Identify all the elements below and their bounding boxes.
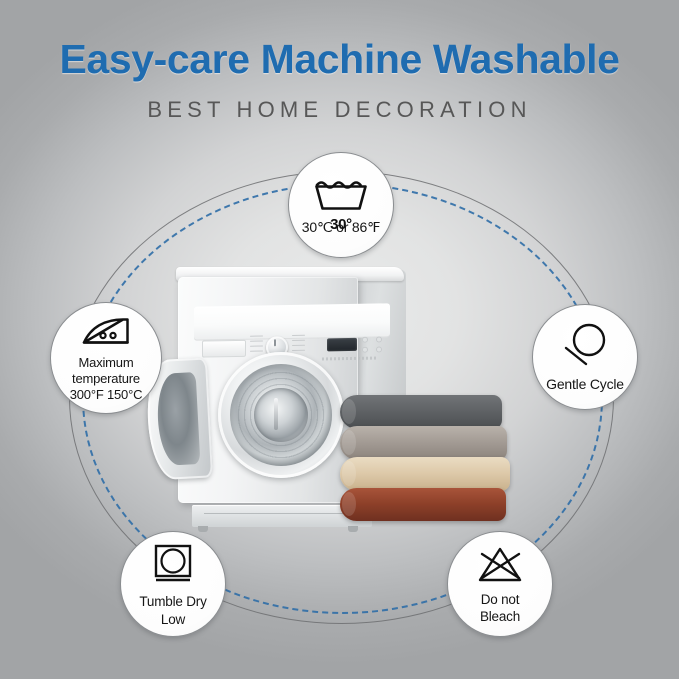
folded-blanket-stack: [340, 395, 505, 523]
panel-label-tick: [292, 335, 305, 337]
washer-foot: [348, 526, 358, 532]
infographic-canvas: Easy-care Machine Washable BEST HOME DEC…: [0, 0, 679, 679]
door-glass: [230, 364, 332, 466]
washer-foot: [198, 526, 208, 532]
washer-base-seam: [204, 513, 354, 514]
panel-label-tick: [250, 341, 263, 343]
detergent-drawer: [202, 340, 246, 358]
washer-control-panel: [194, 303, 390, 340]
care-badge-gentle-cycle[interactable]: Gentle Cycle: [532, 304, 638, 410]
gentle-cycle-icon: [559, 322, 611, 373]
wash-tub-temperature-text: 30°: [313, 216, 369, 233]
care-badge-caption-line1: Tumble Dry: [139, 594, 206, 609]
panel-label-tick: [250, 351, 263, 353]
blanket-taupe-gray: [340, 426, 507, 460]
panel-label-tick: [292, 345, 305, 347]
care-badge-wash-temperature[interactable]: 30° 30℃ or 86℉: [288, 152, 394, 258]
blanket-rust-brown: [340, 488, 506, 521]
care-badge-caption-line1: Maximum: [79, 356, 134, 370]
care-badge-caption-line2: Low: [161, 612, 185, 627]
display-screen: [327, 338, 357, 352]
drum-interior: [254, 388, 308, 442]
panel-label-tick: [292, 350, 305, 352]
iron-two-dots-icon: [79, 315, 133, 354]
care-badge-do-not-bleach[interactable]: Do not Bleach: [447, 531, 553, 637]
care-badge-caption-line3: 300°F 150°C: [70, 388, 143, 402]
blanket-dark-gray: [340, 395, 502, 429]
panel-label-tick: [250, 346, 263, 348]
care-badge-tumble-dry[interactable]: Tumble Dry Low: [120, 531, 226, 637]
care-badge-caption-line2: Bleach: [480, 609, 520, 624]
care-badge-iron-temperature[interactable]: Maximum temperature 300°F 150°C: [50, 302, 162, 414]
panel-label-tick: [250, 336, 263, 338]
care-badge-caption: Gentle Cycle: [546, 377, 624, 392]
do-not-bleach-icon: [475, 545, 525, 590]
washer-front-body: [178, 277, 358, 503]
blanket-beige: [340, 457, 510, 491]
panel-label-tick: [292, 340, 305, 342]
care-badge-caption-line2: temperature: [72, 372, 140, 386]
wash-tub-icon: 30°: [313, 176, 369, 217]
page-title: Easy-care Machine Washable: [0, 36, 679, 83]
care-badge-caption-line1: Do not: [481, 592, 520, 607]
washer-door: [218, 352, 344, 478]
page-subtitle: BEST HOME DECORATION: [0, 97, 679, 123]
product-photo: [168, 255, 508, 525]
tumble-dry-low-icon: [150, 542, 196, 591]
